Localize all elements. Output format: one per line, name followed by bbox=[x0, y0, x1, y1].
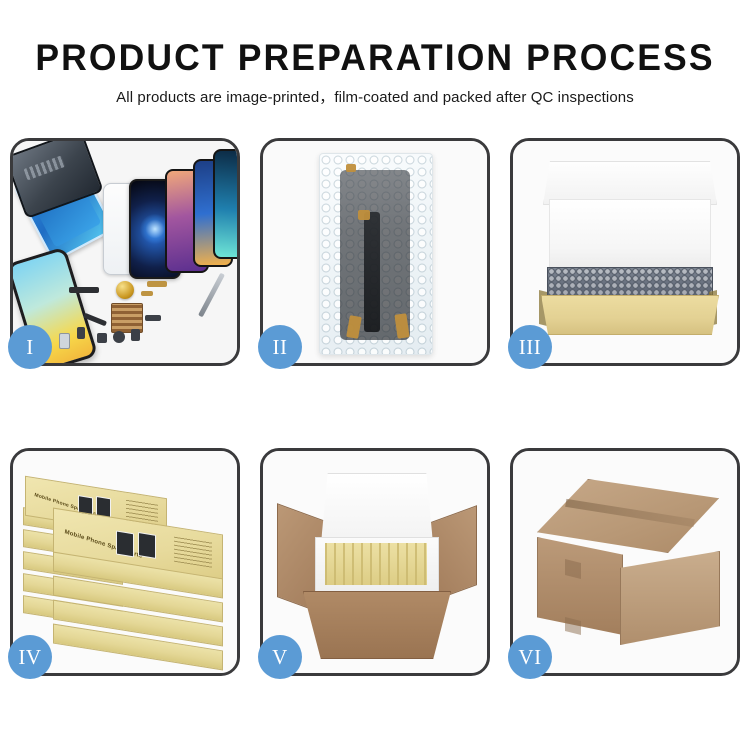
box-spec-lines-front bbox=[174, 536, 212, 568]
phone-teal-screen-icon bbox=[213, 149, 237, 259]
process-step-1[interactable]: I bbox=[10, 138, 240, 366]
step-2-image bbox=[263, 141, 487, 363]
process-step-2[interactable]: II bbox=[260, 138, 490, 366]
box-stack-icon: Mobile Phone Spare Parts Mobile Phone Sp… bbox=[19, 465, 237, 661]
box-window-front-a bbox=[116, 531, 134, 558]
carton-tape-icon-b bbox=[565, 617, 581, 635]
step-3-image bbox=[513, 141, 737, 363]
flex-cable-icon-a bbox=[147, 281, 167, 287]
connector-icon-a bbox=[346, 164, 356, 172]
foam-sheet-icon bbox=[549, 199, 711, 269]
screwdriver-icon bbox=[198, 273, 225, 318]
box-window-front-b bbox=[138, 532, 156, 559]
step-5-image bbox=[263, 451, 487, 673]
small-part-icon-a bbox=[77, 327, 85, 339]
step-6-image bbox=[513, 451, 737, 673]
process-step-6[interactable]: VI bbox=[510, 448, 740, 676]
sealed-carton-right-face-icon bbox=[620, 551, 720, 645]
bubble-wrap-layer-icon bbox=[547, 267, 713, 297]
bubble-wrap-bag-icon bbox=[319, 153, 433, 355]
carton-body-icon bbox=[303, 591, 451, 659]
battery-strip-icon bbox=[69, 287, 99, 293]
step-badge-1: I bbox=[8, 325, 52, 369]
flex-cable-icon-b bbox=[141, 291, 153, 296]
page-title: PRODUCT PREPARATION PROCESS bbox=[15, 36, 735, 80]
step-badge-2: II bbox=[258, 325, 302, 369]
step-badge-5: V bbox=[258, 635, 302, 679]
wrapped-flex-cable-icon bbox=[364, 212, 380, 332]
small-part-icon-d bbox=[145, 315, 161, 321]
process-step-3[interactable]: III bbox=[510, 138, 740, 366]
packed-yellow-boxes-icon bbox=[325, 543, 427, 585]
foam-box-lid-icon bbox=[321, 473, 433, 543]
process-step-5[interactable]: V bbox=[260, 448, 490, 676]
sim-tray-icon bbox=[59, 333, 70, 349]
product-preparation-infographic: PRODUCT PREPARATION PROCESS All products… bbox=[0, 0, 750, 750]
step-badge-4: IV bbox=[8, 635, 52, 679]
speaker-module-icon bbox=[116, 281, 134, 299]
process-step-4[interactable]: Mobile Phone Spare Parts Mobile Phone Sp… bbox=[10, 448, 240, 676]
box-front-panel-icon bbox=[541, 295, 719, 335]
step-4-image: Mobile Phone Spare Parts Mobile Phone Sp… bbox=[13, 451, 237, 673]
connector-icon-b bbox=[358, 210, 370, 220]
camera-module-icon bbox=[113, 331, 125, 343]
step-1-image bbox=[13, 141, 237, 363]
small-part-icon-c bbox=[131, 329, 140, 341]
small-part-icon-b bbox=[97, 333, 107, 343]
process-step-grid: I II bbox=[10, 138, 740, 676]
page-subtitle: All products are image-printed，film-coat… bbox=[0, 88, 750, 108]
header: PRODUCT PREPARATION PROCESS All products… bbox=[0, 0, 750, 108]
step-badge-3: III bbox=[508, 325, 552, 369]
step-badge-6: VI bbox=[508, 635, 552, 679]
